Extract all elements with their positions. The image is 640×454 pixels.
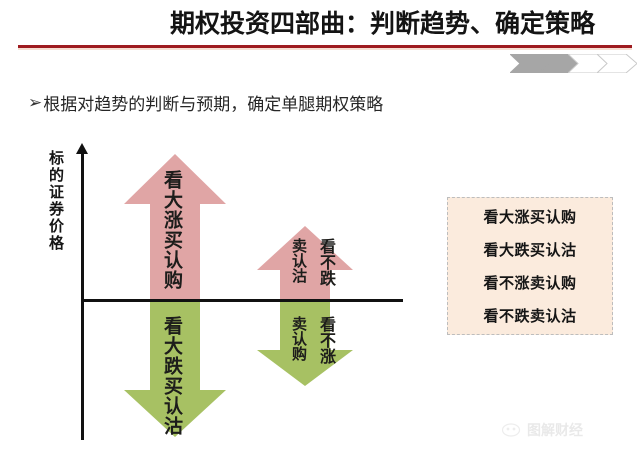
bullet-text: 根据对趋势的判断与预期，确定单腿期权策略	[43, 90, 383, 115]
x-axis-line	[81, 299, 403, 302]
summary-line: 看大涨买认购	[483, 206, 576, 227]
strategy-diagram: 标的证券价格 看大涨买认购 看大跌买认沽 卖认沽 看不跌	[0, 130, 640, 454]
summary-line: 看大跌买认沽	[483, 239, 576, 260]
summary-line: 看不涨卖认购	[483, 272, 576, 293]
watermark-text: 图解财经	[527, 420, 583, 440]
label-mild-bullish-view: 看不跌	[313, 238, 337, 286]
summary-box: 看大涨买认购 看大跌买认沽 看不涨卖认购 看不跌卖认沽	[447, 197, 613, 335]
watermark: 图解财经	[502, 419, 624, 441]
bullet-arrow-icon: ➢	[28, 94, 42, 111]
label-strong-bullish: 看大涨买认购	[158, 170, 185, 290]
label-mild-bearish-strategy: 卖认购	[288, 316, 309, 361]
page-title: 期权投资四部曲：判断趋势、确定策略	[170, 4, 632, 44]
y-axis-line	[81, 152, 84, 440]
bullet-row: ➢ 根据对趋势的判断与预期，确定单腿期权策略	[28, 89, 383, 115]
progress-chevrons	[510, 54, 632, 73]
title-divider-shadow	[18, 48, 632, 50]
label-mild-bearish-view: 看不涨	[313, 316, 337, 364]
y-axis-label: 标的证券价格	[44, 150, 66, 252]
slide-canvas: 期权投资四部曲：判断趋势、确定策略 ➢ 根据对趋势的判断与预期，确定单腿期权策	[0, 0, 640, 454]
label-mild-bullish-strategy: 卖认沽	[288, 238, 309, 283]
chevron-step-4-icon	[597, 54, 637, 73]
label-strong-bearish: 看大跌买认沽	[158, 316, 185, 436]
watermark-logo-icon	[502, 422, 522, 438]
summary-line: 看不跌卖认沽	[483, 305, 576, 326]
